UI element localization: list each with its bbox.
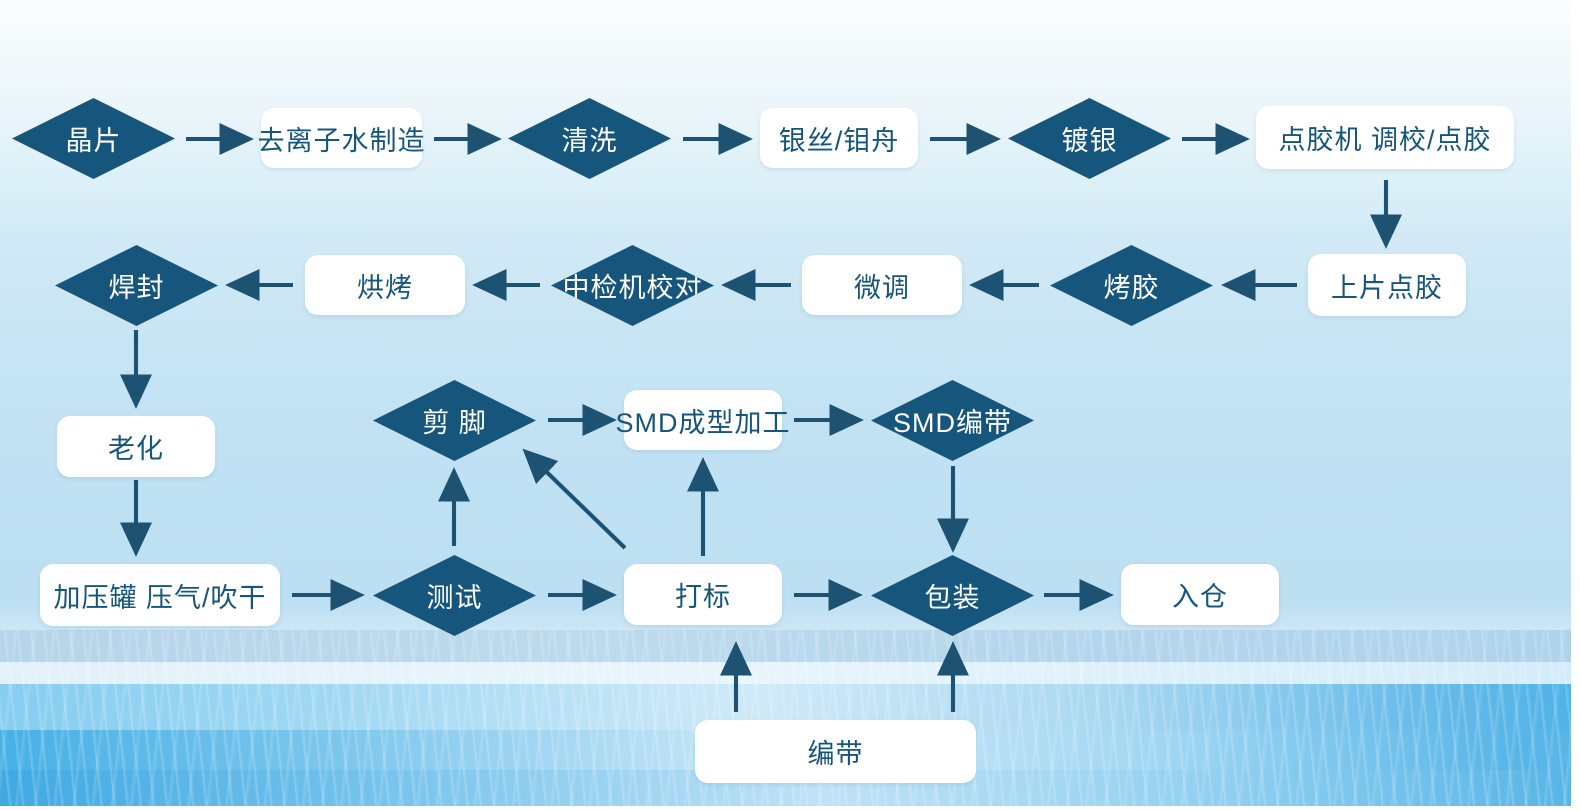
- node-rucang[interactable]: 入仓: [1121, 564, 1279, 625]
- node-label-ceshi: 测试: [427, 576, 483, 615]
- node-label-rucang: 入仓: [1172, 575, 1228, 614]
- node-label-hongkao: 烘烤: [357, 266, 413, 305]
- node-shangpian[interactable]: 上片点胶: [1308, 254, 1466, 316]
- node-label-baozhuang: 包装: [925, 576, 981, 615]
- node-label-smdchengxing: SMD成型加工: [616, 401, 791, 440]
- flowchart-canvas: 晶片去离子水制造清洗银丝/钼舟镀银点胶机 调校/点胶焊封烘烤中检机校对微调烤胶上…: [0, 0, 1580, 810]
- node-weitiao[interactable]: 微调: [802, 255, 962, 315]
- node-label-qingxi: 清洗: [562, 119, 618, 158]
- node-label-yinsi: 银丝/钼舟: [779, 119, 900, 158]
- arrow-dabiao-to-jianjiao: [526, 452, 625, 548]
- node-label-weitiao: 微调: [854, 266, 910, 305]
- node-biandai[interactable]: 编带: [695, 720, 976, 783]
- node-label-kaojiao: 烤胶: [1104, 266, 1160, 305]
- node-label-dabiao: 打标: [675, 575, 731, 614]
- node-dabiao[interactable]: 打标: [624, 564, 782, 625]
- node-laohua[interactable]: 老化: [57, 416, 215, 477]
- node-label-zhongjianji: 中检机校对: [563, 266, 703, 305]
- node-qulizishui[interactable]: 去离子水制造: [261, 108, 422, 168]
- node-label-dianjiaoji: 点胶机 调校/点胶: [1278, 118, 1491, 157]
- node-dianjiaoji[interactable]: 点胶机 调校/点胶: [1256, 106, 1514, 169]
- node-label-duyin: 镀银: [1062, 119, 1118, 158]
- node-label-shangpian: 上片点胶: [1331, 266, 1443, 305]
- node-label-smdbiandai: SMD编带: [893, 401, 1012, 440]
- node-label-laohua: 老化: [108, 427, 164, 466]
- node-smdchengxing[interactable]: SMD成型加工: [624, 390, 782, 450]
- node-label-biandai: 编带: [808, 732, 864, 771]
- node-label-jiayaguan: 加压罐 压气/吹干: [53, 576, 266, 615]
- node-label-jianjiao: 剪 脚: [422, 401, 487, 440]
- node-label-jingpian: 晶片: [66, 119, 122, 158]
- node-label-qulizishui: 去离子水制造: [258, 119, 426, 158]
- node-hongkao[interactable]: 烘烤: [305, 255, 465, 315]
- node-jiayaguan[interactable]: 加压罐 压气/吹干: [40, 564, 280, 626]
- node-yinsi[interactable]: 银丝/钼舟: [760, 108, 918, 168]
- node-label-hanfeng: 焊封: [109, 266, 165, 305]
